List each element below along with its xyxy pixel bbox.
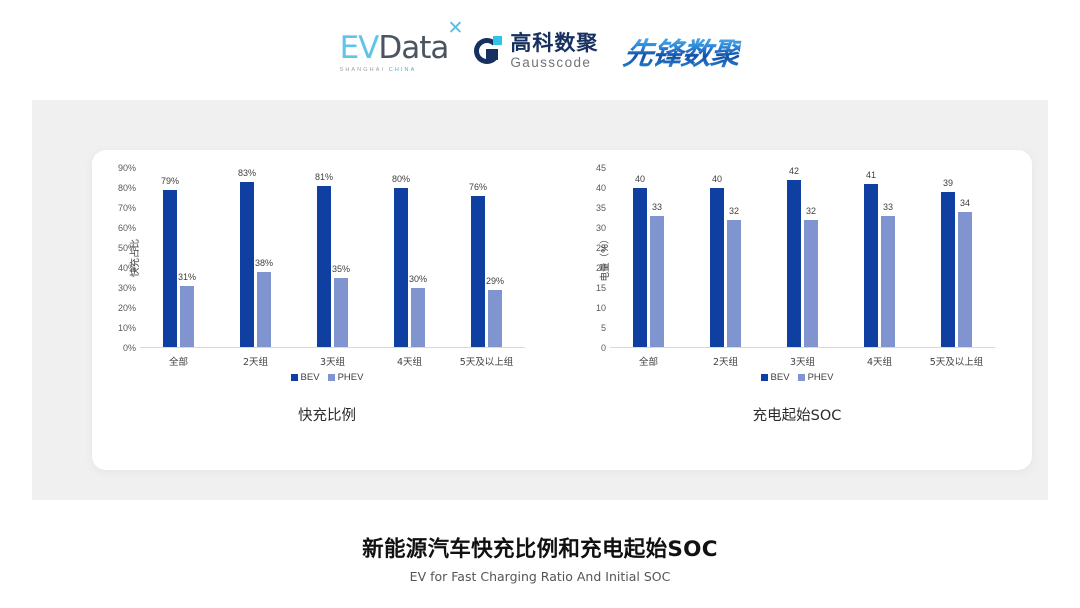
x-tick-label: 4天组 [371,354,448,368]
y-tick-label: 10 [568,303,606,313]
bar-phev[interactable]: 32 [727,220,741,348]
legend-swatch [328,374,335,381]
y-axis-label-right: 电量（%） [597,234,611,281]
gausscode-g-icon [474,36,504,66]
x-tick-label: 3天组 [764,354,841,368]
evdata-x-icon: ✕ [447,17,463,39]
bar-phev[interactable]: 33 [881,216,895,348]
bar-value-label: 41 [866,170,876,180]
content-panel: 快充占比 0%10%20%30%40%50%60%70%80%90% 79%31… [32,100,1048,500]
legend-left: BEVPHEV [92,372,562,383]
y-tick-label: 45 [568,163,606,173]
bar-group: 81%35% [294,168,371,348]
y-tick-label: 40% [98,263,136,273]
bar-bev[interactable]: 76% [471,196,485,348]
y-tick-label: 15 [568,283,606,293]
bar-pair: 4133 [841,168,918,348]
x-tick-label: 3天组 [294,354,371,368]
plot-area-left: 快充占比 0%10%20%30%40%50%60%70%80%90% 79%31… [140,168,525,348]
y-tick-label: 0 [568,343,606,353]
x-axis-labels-left: 全部2天组3天组4天组5天及以上组 [140,348,525,368]
x-tick-label: 4天组 [841,354,918,368]
bar-bev[interactable]: 40 [710,188,724,348]
bar-phev[interactable]: 29% [488,290,502,348]
legend-item-phev[interactable]: PHEV [328,372,364,383]
y-tick-label: 20% [98,303,136,313]
bar-value-label: 39 [943,178,953,188]
chart-fast-charging-ratio: 快充占比 0%10%20%30%40%50%60%70%80%90% 79%31… [92,150,562,470]
legend-item-phev[interactable]: PHEV [798,372,834,383]
x-tick-label: 2天组 [687,354,764,368]
slide-page: EV Data ✕ SHANGHAI CHINA 高科数聚 Gausscode … [0,0,1080,608]
bar-value-label: 40 [712,174,722,184]
charts-container: 快充占比 0%10%20%30%40%50%60%70%80%90% 79%31… [92,150,1032,470]
bar-group: 4032 [687,168,764,348]
evdata-country-text: CHINA [389,67,417,73]
bar-value-label: 80% [392,174,410,184]
bar-pair: 3934 [918,168,995,348]
bar-phev[interactable]: 31% [180,286,194,348]
bar-pair: 83%38% [217,168,294,348]
evdata-city-text: SHANGHAI [340,67,386,73]
bar-bev[interactable]: 40 [633,188,647,348]
legend-item-bev[interactable]: BEV [291,372,320,383]
bar-value-label: 76% [469,182,487,192]
plot-area-right: 电量（%） 051015202530354045 403340324232413… [610,168,995,348]
bar-bev[interactable]: 42 [787,180,801,348]
page-title: 新能源汽车快充比例和充电起始SOC [0,532,1080,563]
bar-bev[interactable]: 41 [864,184,878,348]
bar-phev[interactable]: 30% [411,288,425,348]
bar-value-label: 32 [729,206,739,216]
bar-value-label: 81% [315,172,333,182]
x-axis-labels-right: 全部2天组3天组4天组5天及以上组 [610,348,995,368]
y-tick-label: 50% [98,243,136,253]
bar-value-label: 83% [238,168,256,178]
bar-phev[interactable]: 38% [257,272,271,348]
legend-label: BEV [771,372,790,383]
bar-value-label: 35% [332,264,350,274]
gausscode-logo: 高科数聚 Gausscode [474,33,598,70]
bar-bev[interactable]: 79% [163,190,177,348]
bar-group: 76%29% [448,168,525,348]
evdata-tagline: SHANGHAI CHINA [340,67,417,73]
y-tick-label: 5 [568,323,606,333]
chart-caption-left: 快充比例 [92,404,562,425]
bar-pair: 79%31% [140,168,217,348]
bar-group: 4133 [841,168,918,348]
gausscode-cn-text: 高科数聚 [510,33,598,54]
bottom-titles: 新能源汽车快充比例和充电起始SOC EV for Fast Charging R… [0,532,1080,584]
bar-bev[interactable]: 83% [240,182,254,348]
bar-pair: 4033 [610,168,687,348]
x-tick-label: 全部 [140,354,217,368]
bar-pair: 76%29% [448,168,525,348]
bar-group: 4232 [764,168,841,348]
evdata-data-text: Data [378,30,448,66]
bar-value-label: 31% [178,272,196,282]
gausscode-wordmark: 高科数聚 Gausscode [510,33,598,70]
legend-swatch [761,374,768,381]
y-tick-label: 30% [98,283,136,293]
bar-value-label: 79% [161,176,179,186]
bar-value-label: 32 [806,206,816,216]
bar-value-label: 30% [409,274,427,284]
legend-item-bev[interactable]: BEV [761,372,790,383]
bar-groups-left: 79%31%83%38%81%35%80%30%76%29% [140,168,525,348]
bar-phev[interactable]: 35% [334,278,348,348]
legend-label: PHEV [338,372,364,383]
charts-card: 快充占比 0%10%20%30%40%50%60%70%80%90% 79%31… [92,150,1032,470]
evdata-wordmark: EV Data ✕ [340,30,449,66]
bar-group: 83%38% [217,168,294,348]
y-tick-label: 60% [98,223,136,233]
legend-swatch [798,374,805,381]
evdata-ev-text: EV [340,30,379,66]
y-tick-label: 0% [98,343,136,353]
bar-value-label: 42 [789,166,799,176]
y-tick-label: 90% [98,163,136,173]
y-tick-label: 70% [98,203,136,213]
x-tick-label: 2天组 [217,354,294,368]
y-tick-label: 20 [568,263,606,273]
logo-bar: EV Data ✕ SHANGHAI CHINA 高科数聚 Gausscode … [0,22,1080,80]
bar-groups-right: 40334032423241333934 [610,168,995,348]
y-tick-label: 10% [98,323,136,333]
legend-right: BEVPHEV [562,372,1032,383]
evdata-logo: EV Data ✕ SHANGHAI CHINA [340,30,449,73]
bar-value-label: 40 [635,174,645,184]
gausscode-en-text: Gausscode [510,56,598,70]
bar-phev[interactable]: 33 [650,216,664,348]
bar-pair: 81%35% [294,168,371,348]
bar-bev[interactable]: 39 [941,192,955,348]
bar-pair: 4032 [687,168,764,348]
y-tick-label: 30 [568,223,606,233]
bar-group: 4033 [610,168,687,348]
chart-initial-soc: 电量（%） 051015202530354045 403340324232413… [562,150,1032,470]
bar-bev[interactable]: 81% [317,186,331,348]
legend-label: BEV [301,372,320,383]
bar-bev[interactable]: 80% [394,188,408,348]
chart-caption-right: 充电起始SOC [562,404,1032,425]
bar-pair: 80%30% [371,168,448,348]
page-subtitle: EV for Fast Charging Ratio And Initial S… [0,569,1080,584]
bar-phev[interactable]: 34 [958,212,972,348]
bar-group: 3934 [918,168,995,348]
y-tick-label: 35 [568,203,606,213]
bar-group: 79%31% [140,168,217,348]
bar-phev[interactable]: 32 [804,220,818,348]
legend-label: PHEV [808,372,834,383]
bar-value-label: 29% [486,276,504,286]
x-tick-label: 全部 [610,354,687,368]
bar-value-label: 38% [255,258,273,268]
bar-value-label: 34 [960,198,970,208]
legend-swatch [291,374,298,381]
x-tick-label: 5天及以上组 [448,354,525,368]
bar-value-label: 33 [883,202,893,212]
y-tick-label: 40 [568,183,606,193]
x-tick-label: 5天及以上组 [918,354,995,368]
bar-pair: 4232 [764,168,841,348]
y-tick-label: 80% [98,183,136,193]
bar-group: 80%30% [371,168,448,348]
bar-value-label: 33 [652,202,662,212]
xianfeng-cn-text: 先锋数聚 [621,29,743,73]
xianfeng-logo: 先锋数聚 [624,29,740,73]
y-tick-label: 25 [568,243,606,253]
